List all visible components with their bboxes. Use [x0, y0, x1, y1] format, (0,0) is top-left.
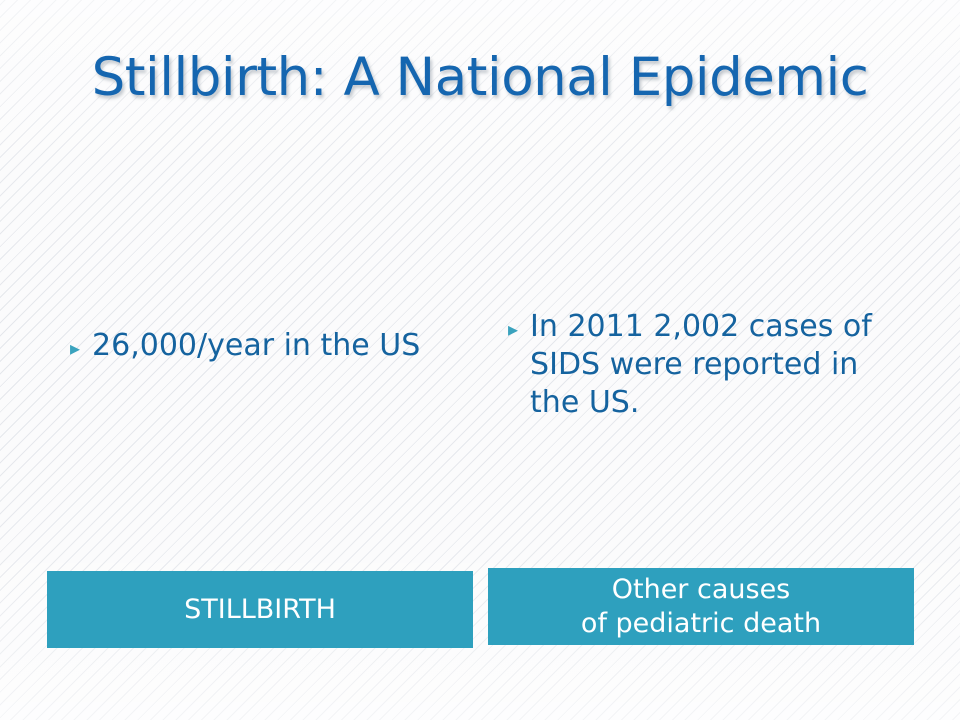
bullet-item-stillbirth-rate: ▸ 26,000/year in the US	[70, 327, 490, 365]
slide-canvas: Stillbirth: A National Epidemic ▸ 26,000…	[0, 0, 960, 720]
comparison-bar-label-line-1: Other causes	[581, 573, 821, 607]
triangle-bullet-icon: ▸	[70, 338, 80, 358]
comparison-bar-label-line-2: of pediatric death	[581, 607, 821, 641]
comparison-bar-stillbirth: STILLBIRTH	[47, 571, 473, 648]
bullet-item-sids-cases: ▸ In 2011 2,002 cases of SIDS were repor…	[508, 308, 912, 422]
bullet-item-label: 26,000/year in the US	[92, 327, 490, 365]
comparison-bar-label: Other causes of pediatric death	[581, 573, 821, 641]
triangle-bullet-icon: ▸	[508, 319, 518, 339]
comparison-bar-label: STILLBIRTH	[184, 593, 336, 627]
comparison-bar-other-causes: Other causes of pediatric death	[488, 568, 914, 645]
bullet-item-label: In 2011 2,002 cases of SIDS were reporte…	[530, 308, 912, 422]
page-title: Stillbirth: A National Epidemic	[0, 46, 960, 110]
